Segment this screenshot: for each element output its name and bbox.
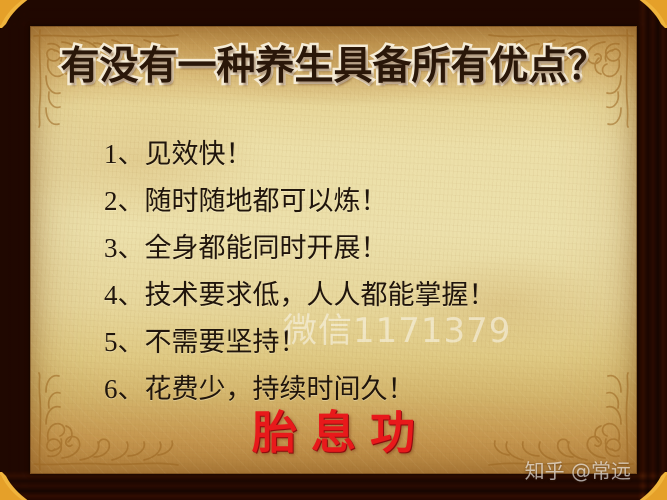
list-item: 2、随时随地都可以炼！ [104,178,496,225]
list-item: 3、全身都能同时开展！ [104,225,496,272]
practice-name-title: 胎息功 [0,405,667,461]
list-item: 1、见效快！ [104,131,496,178]
list-item: 4、技术要求低，人人都能掌握！ [104,272,496,319]
list-item: 5、不需要坚持！ [104,319,496,366]
poster-image: 有没有一种养生具备所有优点？ 1、见效快！ 2、随时随地都可以炼！ 3、全身都能… [0,0,667,500]
benefits-list: 1、见效快！ 2、随时随地都可以炼！ 3、全身都能同时开展！ 4、技术要求低，人… [104,131,496,413]
page-title: 有没有一种养生具备所有优点？ [0,44,667,90]
